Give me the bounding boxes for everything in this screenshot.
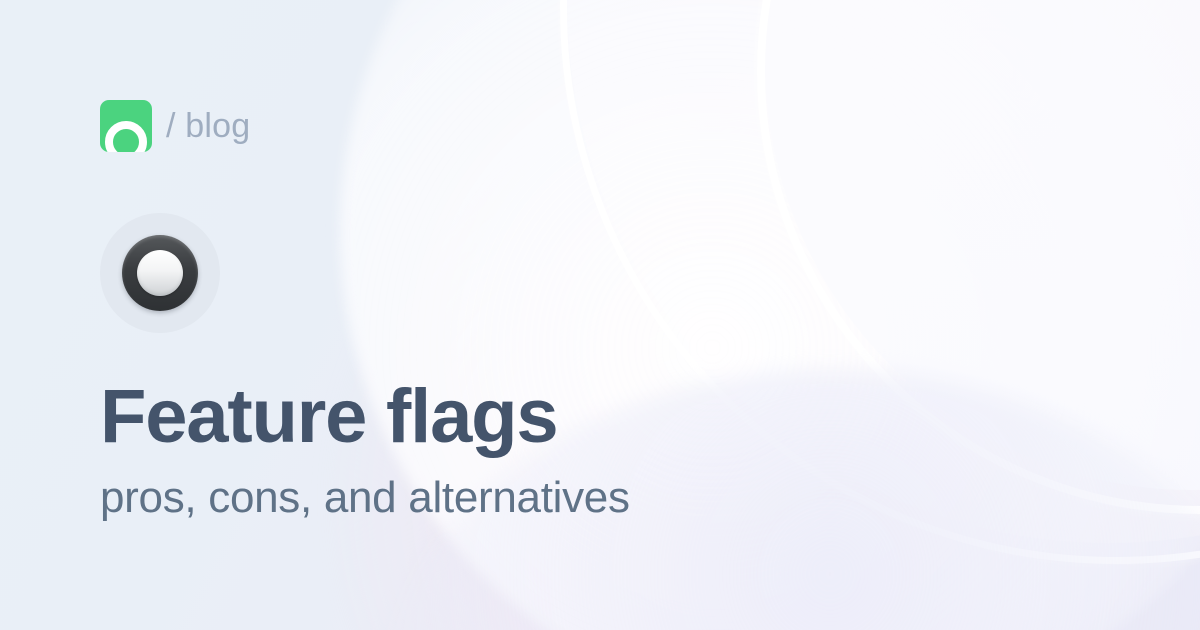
inner-ring-arc-decoration [757,0,1200,514]
ring-annulus-fill-decoration [567,0,1200,543]
white-bloom-decoration [340,0,1200,630]
rounded-square-arch-logo-icon[interactable] [100,100,152,152]
toggle-knob-shape [137,250,183,296]
headline-block: Feature flags pros, cons, and alternativ… [100,378,630,521]
inner-ring-fill-decoration [765,0,1200,490]
page-title: Feature flags [100,378,630,456]
brand-name-label: / blog [166,109,250,143]
og-preview-card: / blog Feature flags pros, cons, and alt… [0,0,1200,630]
outer-ring-arc-decoration [560,0,1200,564]
toggle-switch-knob-icon [100,213,220,333]
toggle-ring-shape [122,235,198,311]
arch-shape [105,121,147,152]
page-subtitle: pros, cons, and alternatives [100,474,630,522]
brand-row[interactable]: / blog [100,100,250,152]
